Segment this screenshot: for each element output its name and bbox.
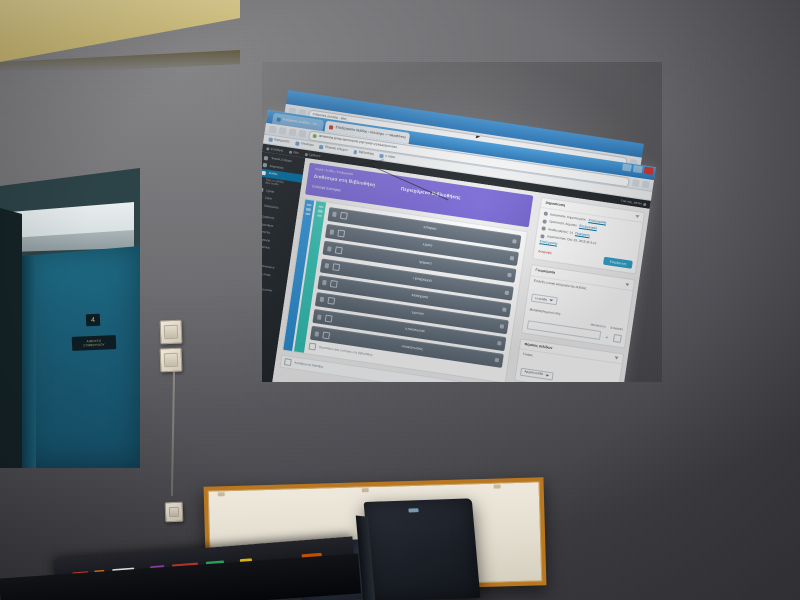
drag-handle-icon[interactable]	[322, 280, 327, 286]
delete-checkbox[interactable]	[613, 334, 622, 343]
star-icon[interactable]	[632, 179, 640, 187]
calendar-icon	[540, 234, 545, 239]
more-icon[interactable]	[507, 273, 512, 278]
pin-icon	[263, 163, 268, 168]
parent-select-value: Η σελίδα	[535, 297, 547, 302]
wordpress-logo-icon	[266, 147, 269, 150]
sidebar-item-label: Εκδηλώσεις	[263, 204, 279, 209]
drag-handle-icon[interactable]	[332, 212, 337, 218]
rail-mark	[305, 213, 310, 216]
photo-scene: 4 ΑΙΘΟΥΣΑ ΣΥΜΒΟΥΛΙΟΥ Ρυθμίσεις σελίδας -…	[0, 0, 800, 600]
plus-icon[interactable]: +	[605, 336, 609, 341]
more-icon[interactable]	[500, 324, 505, 329]
maximize-button[interactable]	[633, 165, 643, 173]
sidebar-item-label: Σχόλια	[265, 190, 274, 194]
projected-screen[interactable]: Ρυθμίσεις σελίδας - Wor... Gmail Ημερολό…	[262, 62, 662, 382]
more-icon[interactable]	[505, 290, 510, 295]
sidebar-item-label: Σελίδες	[268, 172, 278, 176]
admin-bar-item[interactable]: Ιστολόγιο	[266, 147, 283, 152]
bookmark-label: Εφαρμογές	[274, 139, 290, 144]
trash-link[interactable]: Διαγραφή	[538, 250, 552, 255]
favicon-icon	[277, 117, 282, 122]
bookmark-icon	[268, 138, 272, 142]
sidebar-item-label: Έργα	[264, 197, 271, 201]
parent-select[interactable]: Η σελίδα	[531, 294, 558, 306]
bookmark-item[interactable]: Ιστολόγιο	[295, 142, 314, 148]
update-button[interactable]: Ενημέρωση	[603, 257, 633, 269]
minimize-button[interactable]	[622, 163, 632, 171]
comment-icon	[304, 152, 307, 155]
sidebar-item-label: Σύμπτυξη μενού	[262, 286, 272, 292]
more-icon[interactable]	[495, 358, 500, 363]
bookmark-icon	[380, 154, 384, 158]
dashboard-icon	[264, 156, 269, 161]
sidebar-item-label: Χρήστες	[262, 231, 270, 235]
admin-bar-label: Νέο	[293, 151, 299, 155]
publish-visibility-label: Ορατότητα: Δημόσιο	[549, 221, 577, 228]
order-col-left: Μετακίνηση	[590, 323, 605, 328]
rail-mark	[318, 205, 323, 208]
sidebar-item-label: Εργαλεία	[262, 238, 270, 243]
bookmark-item[interactable]: Βιβλιοθήκη	[353, 150, 374, 156]
drag-handle-icon[interactable]	[325, 263, 330, 269]
webcam-icon	[408, 508, 418, 512]
save-icon	[284, 359, 292, 367]
rail-mark	[306, 208, 311, 211]
save-layout-label: Αποθήκευση διάταξης	[294, 362, 323, 369]
eye-icon	[542, 219, 547, 224]
edit-visibility-link[interactable]: Επεξεργασία	[579, 225, 597, 231]
favicon-icon	[329, 125, 334, 130]
bookmark-label: Πίνακας ελέγχου	[325, 146, 348, 152]
lock-icon	[312, 133, 317, 138]
drag-handle-icon[interactable]	[314, 331, 319, 337]
bookmark-label: Βιβλιοθήκη	[359, 151, 374, 156]
pencil-icon	[544, 212, 549, 217]
chevron-down-icon[interactable]	[614, 356, 618, 360]
rail-mark	[306, 204, 311, 207]
attributes-metabox-title: Γνωρίσματα	[535, 269, 555, 275]
rail-mark	[317, 210, 322, 213]
chevron-down-icon	[549, 299, 553, 302]
close-button[interactable]	[644, 167, 654, 175]
bookmark-icon	[319, 145, 323, 149]
more-icon[interactable]	[502, 307, 507, 312]
add-section-label: Προσθήκη νέας ενότητας στη βιβλιοθήκη	[319, 346, 373, 357]
browse-revisions-link[interactable]: Περιήγηση	[575, 232, 590, 237]
whiteboard-clip	[218, 492, 225, 496]
clock-icon	[541, 226, 546, 231]
publish-metabox-title: Δημοσίευση	[545, 202, 565, 208]
menu-icon[interactable]	[642, 180, 650, 188]
template-select-value: Αρχική σελίδα	[524, 371, 543, 377]
publish-revisions-label: Αναθεωρήσεις: 14	[548, 228, 573, 235]
forward-icon[interactable]	[279, 127, 287, 135]
edit-status-link[interactable]: Επεξεργασία	[588, 219, 606, 225]
order-col-right: Διαγραφή	[610, 326, 623, 331]
admin-bar-label: Ιστολόγιο	[271, 147, 284, 152]
section-row-list: Ιστορικό Σχολή	[304, 202, 527, 382]
avatar	[643, 202, 646, 205]
drag-handle-icon[interactable]	[317, 314, 322, 320]
attributes-metabox: Γνωρίσματα Επιλέξτε γονική κατηγορία της…	[521, 264, 635, 348]
sidebar-item-label: Πρόσθετα	[262, 223, 274, 228]
bookmark-item[interactable]: Εφαρμογές	[268, 138, 289, 145]
template-select[interactable]: Αρχική σελίδα	[520, 368, 554, 381]
admin-bar-item[interactable]: Σχόλια 0	[304, 152, 320, 157]
chevron-down-icon[interactable]	[635, 215, 639, 219]
drag-handle-icon[interactable]	[327, 246, 332, 252]
publish-metabox: Δημοσίευση Κατάσταση: Δημοσιευμένο Επεξε…	[532, 197, 645, 275]
laptop-open-screen	[364, 498, 481, 600]
sidebar-item-label: Εμφάνιση	[262, 216, 274, 221]
chevron-down-icon[interactable]	[625, 283, 629, 287]
drag-handle-icon[interactable]	[320, 297, 325, 303]
bookmark-icon	[353, 150, 357, 154]
sidebar-item-label: Ρυθμίσεις	[262, 245, 270, 250]
reload-icon[interactable]	[289, 128, 297, 136]
projection-surface: Ρυθμίσεις σελίδας - Wor... Gmail Ημερολό…	[262, 62, 662, 382]
sidebar-item-label: WooCommerce	[262, 264, 275, 270]
sidebar-item-label: Google Fonts	[262, 272, 271, 277]
chevron-down-icon	[545, 374, 549, 377]
home-icon[interactable]	[298, 130, 306, 138]
whiteboard-clip	[362, 488, 369, 492]
admin-bar-item[interactable]: Νέο	[289, 150, 299, 154]
template-metabox-title: Θέματος σελίδων	[524, 343, 552, 350]
rail-mark	[316, 214, 321, 217]
bookmark-label: Ιστολόγιο	[301, 143, 314, 148]
sections-panel: Ιστορικό Σχολή	[282, 198, 528, 382]
plus-icon	[289, 150, 292, 153]
more-icon[interactable]	[512, 239, 517, 244]
whiteboard-clip	[494, 484, 501, 488]
more-icon[interactable]	[497, 341, 502, 346]
window-controls	[622, 163, 654, 174]
page-icon	[262, 171, 266, 176]
browser-tab-title: Ρυθμίσεις σελίδας ‹ Ιστ...	[282, 118, 319, 127]
bookmark-label: e-class	[385, 155, 395, 159]
comment-icon	[262, 188, 263, 193]
more-icon[interactable]	[510, 256, 515, 261]
bookmark-icon	[295, 142, 299, 146]
admin-bar-label: Σχόλια 0	[309, 153, 321, 158]
plus-icon	[308, 343, 316, 351]
sidebar-item-label: Αναρτήσεις	[269, 165, 284, 170]
editor-main-column: Αρχική / Σελίδες / Επεξεργασία Διαθέσιμα…	[272, 158, 539, 382]
drag-handle-icon[interactable]	[330, 229, 335, 235]
back-icon[interactable]	[269, 125, 277, 133]
